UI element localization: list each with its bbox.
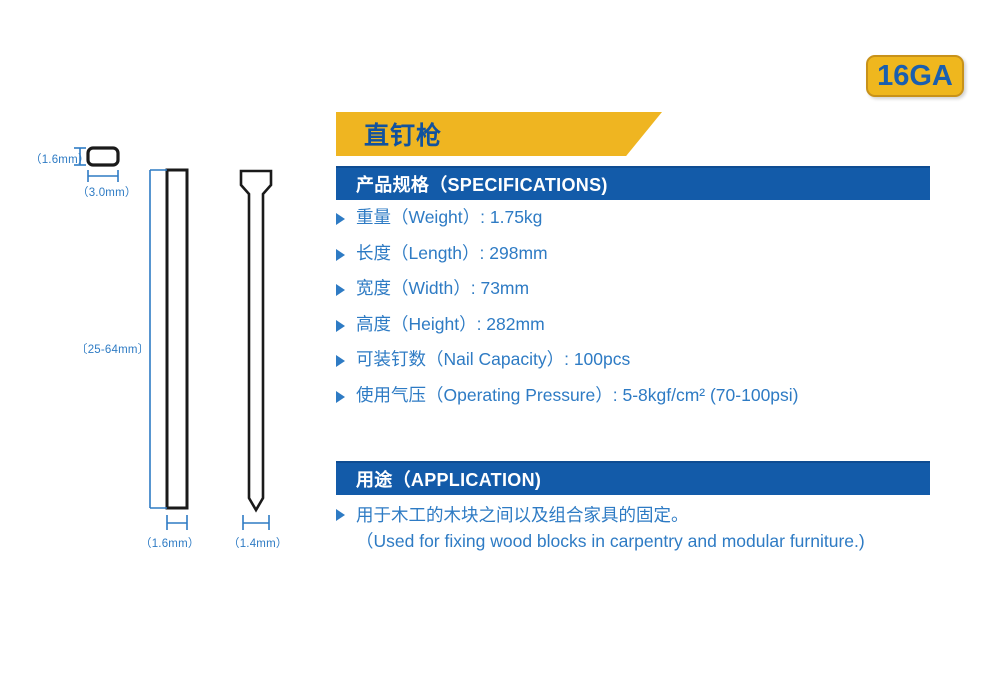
nail-side-view-shape — [241, 171, 271, 510]
spec-item: 可装钉数（Nail Capacity）: 100pcs — [336, 348, 976, 384]
product-title: 直钉枪 — [336, 116, 442, 152]
product-title-banner: 直钉枪 — [336, 112, 662, 156]
triangle-bullet-icon — [336, 284, 345, 296]
nail-front-view-shape — [167, 170, 187, 508]
spec-item: 使用气压（Operating Pressure）: 5-8kgf/cm² (70… — [336, 384, 976, 420]
spec-item-label: 可装钉数（Nail Capacity）: 100pcs — [356, 348, 630, 370]
gauge-badge-label: 16GA — [877, 62, 953, 91]
spec-item-label: 重量（Weight）: 1.75kg — [356, 206, 542, 228]
spec-item-label: 宽度（Width）: 73mm — [356, 277, 529, 299]
cross-section-width-dimension — [88, 170, 118, 182]
triangle-bullet-icon — [336, 355, 345, 367]
spec-item: 高度（Height）: 282mm — [336, 313, 976, 349]
triangle-bullet-icon — [336, 509, 345, 521]
specifications-section-header: 产品规格（SPECIFICATIONS) — [336, 166, 930, 200]
dimension-label-nail2-width: （1.4mm） — [228, 535, 288, 551]
spec-item: 长度（Length）: 298mm — [336, 242, 976, 278]
spec-item-label: 高度（Height）: 282mm — [356, 313, 545, 335]
spec-item-label: 长度（Length）: 298mm — [356, 242, 548, 264]
specifications-list: 重量（Weight）: 1.75kg 长度（Length）: 298mm 宽度（… — [336, 206, 976, 419]
application-header-label: 用途（APPLICATION) — [336, 466, 541, 492]
application-content: 用于木工的木块之间以及组合家具的固定。 （Used for fixing woo… — [336, 502, 986, 554]
dimension-label-cross-section-thickness: （1.6mm） — [30, 151, 90, 167]
dimension-label-nail1-width: （1.6mm） — [140, 535, 200, 551]
specifications-header-label: 产品规格（SPECIFICATIONS) — [336, 171, 608, 197]
spec-item-label: 使用气压（Operating Pressure）: 5-8kgf/cm² (70… — [356, 384, 799, 406]
dimension-label-cross-section-width: （3.0mm） — [77, 184, 137, 200]
nail2-width-dimension — [243, 515, 269, 530]
spec-item: 重量（Weight）: 1.75kg — [336, 206, 976, 242]
nail1-width-dimension — [167, 515, 187, 530]
nail-cross-section-shape — [88, 148, 118, 165]
spec-item: 宽度（Width）: 73mm — [336, 277, 976, 313]
gauge-badge: 16GA — [866, 55, 964, 97]
application-text-chinese: 用于木工的木块之间以及组合家具的固定。 — [356, 502, 865, 528]
dimension-label-nail-length: 〔25-64mm〕 — [76, 341, 149, 357]
triangle-bullet-icon — [336, 213, 345, 225]
nail-drawing-svg — [0, 130, 330, 570]
nail-technical-drawing: （1.6mm） （3.0mm） 〔25-64mm〕 （1.6mm） （1.4mm… — [0, 130, 330, 570]
triangle-bullet-icon — [336, 391, 345, 403]
nail-length-dimension — [150, 170, 167, 508]
application-text-lines: 用于木工的木块之间以及组合家具的固定。 （Used for fixing woo… — [356, 502, 865, 554]
application-text-english: （Used for fixing wood blocks in carpentr… — [356, 528, 865, 554]
application-section-header: 用途（APPLICATION) — [336, 461, 930, 495]
triangle-bullet-icon — [336, 320, 345, 332]
triangle-bullet-icon — [336, 249, 345, 261]
